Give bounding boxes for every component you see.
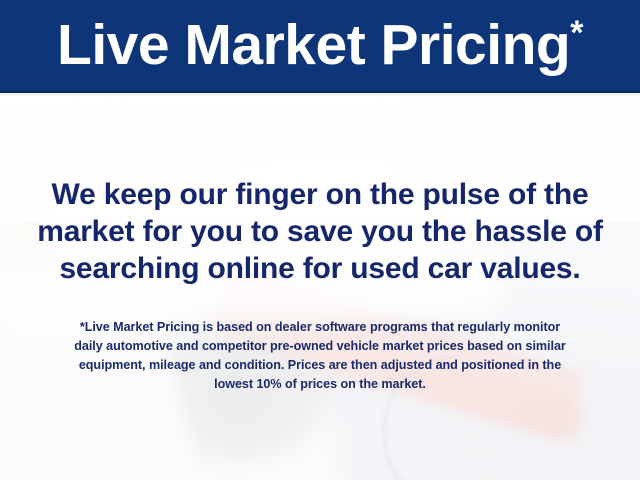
- live-market-pricing-banner: Live Market Pricing* We keep our finger …: [0, 0, 640, 480]
- headline-line-2: market for you to save you the hassle of: [0, 213, 640, 250]
- disclaimer-line-2: daily automotive and competitor pre-owne…: [34, 337, 606, 356]
- disclaimer-line-4: lowest 10% of prices on the market.: [34, 375, 606, 394]
- headline-line-1: We keep our finger on the pulse of the: [0, 176, 640, 213]
- header-band: Live Market Pricing*: [0, 0, 640, 93]
- page-title: Live Market Pricing*: [57, 16, 583, 78]
- disclaimer-text: *Live Market Pricing is based on dealer …: [34, 318, 606, 394]
- disclaimer-line-1: *Live Market Pricing is based on dealer …: [34, 318, 606, 337]
- headline: We keep our finger on the pulse of the m…: [0, 176, 640, 287]
- page-title-asterisk: *: [570, 14, 583, 52]
- page-title-text: Live Market Pricing: [57, 13, 570, 77]
- header-divider: [0, 93, 640, 96]
- headline-line-3: searching online for used car values.: [0, 250, 640, 287]
- disclaimer-line-3: equipment, mileage and condition. Prices…: [34, 356, 606, 375]
